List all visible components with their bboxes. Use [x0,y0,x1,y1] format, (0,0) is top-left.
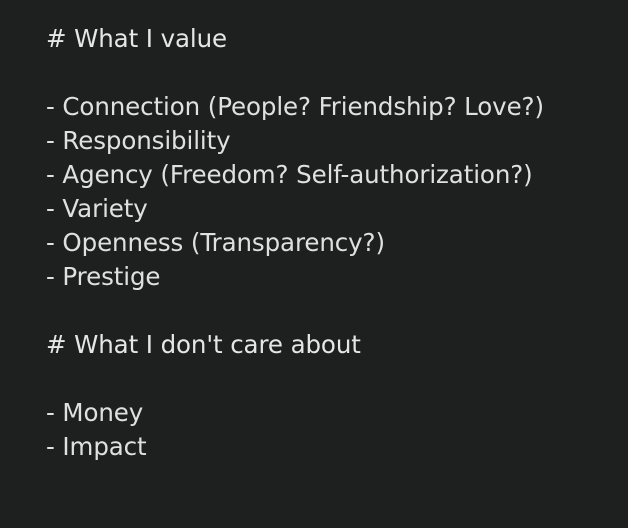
list-item-connection: - Connection (People? Friendship? Love?) [46,90,608,124]
list-item-prestige: - Prestige [46,260,608,294]
list-item-money: - Money [46,396,608,430]
list-item-variety: - Variety [46,192,608,226]
section-heading-what-i-dont-care-about: # What I don't care about [46,328,608,362]
section-heading-what-i-value: # What I value [46,22,608,56]
note-canvas: # What I value - Connection (People? Fri… [0,0,628,528]
blank-line [46,362,608,396]
blank-line [46,294,608,328]
list-item-agency: - Agency (Freedom? Self-authorization?) [46,158,608,192]
list-item-impact: - Impact [46,430,608,464]
list-item-openness: - Openness (Transparency?) [46,226,608,260]
note-text-body[interactable]: # What I value - Connection (People? Fri… [46,22,608,464]
list-item-responsibility: - Responsibility [46,124,608,158]
blank-line [46,56,608,90]
